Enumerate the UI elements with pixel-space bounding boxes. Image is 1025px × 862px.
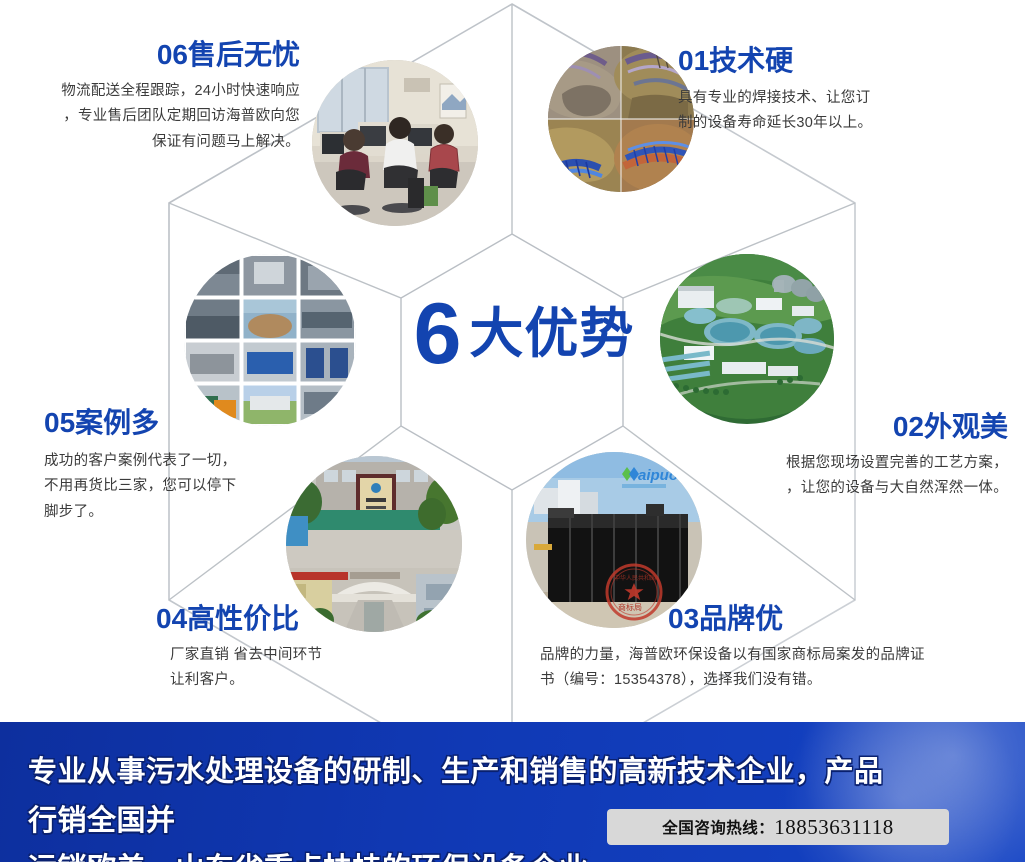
advantage-01-desc: 具有专业的焊接技术、让您订 制的设备寿命延长30年以上。 [678,86,1008,137]
photo-circle-03: aipuou 商标局 中华人民共和国 [526,452,702,628]
case-collage-photo [184,254,356,426]
advantage-01: 01技术硬 具有专业的焊接技术、让您订 制的设备寿命延长30年以上。 [678,46,1008,137]
photo-circle-06 [312,60,478,226]
hotline-label: 全国咨询热线： [662,816,774,838]
advantage-04-title: 04高性价比 [156,604,456,635]
photo-circle-02 [660,254,834,424]
advantage-04-desc: 厂家直销 省去中间环节 让利客户。 [170,643,456,694]
advantage-03: 03品牌优 品牌的力量，海普欧环保设备以有国家商标局案发的品牌证 书（编号：15… [540,604,980,694]
svg-text:aipuou: aipuou [638,467,687,484]
advantage-06-title: 06售后无忧 [0,40,300,71]
center-text: 大优势 [469,307,634,361]
advantages-stage: 6 大优势 [0,0,1025,722]
advantage-03-desc: 品牌的力量，海普欧环保设备以有国家商标局案发的品牌证 书（编号：15354378… [540,643,980,694]
center-label: 6 大优势 [384,286,664,382]
hotline-number: 18853631118 [774,815,893,840]
advantage-01-title: 01技术硬 [678,46,1008,77]
welding-seams-photo [548,46,694,192]
svg-text:中华人民共和国: 中华人民共和国 [614,574,656,582]
advantage-06: 06售后无忧 物流配送全程跟踪，24小时快速响应 ，专业售后团队定期回访海普欧向… [0,40,300,155]
advantage-06-desc: 物流配送全程跟踪，24小时快速响应 ，专业售后团队定期回访海普欧向您 保证有问题… [0,79,300,155]
advantage-05-title: 05案例多 [44,408,344,439]
advantage-04: 04高性价比 厂家直销 省去中间环节 让利客户。 [156,604,456,694]
advantage-03-title: 03品牌优 [668,604,980,635]
bottom-banner: 专业从事污水处理设备的研制、生产和销售的高新技术企业，产品行销全国并 远销欧美，… [0,722,1025,862]
aerial-wastewater-plant-photo [660,254,834,424]
office-staff-photo [312,60,478,226]
black-equipment-tank-photo: aipuou 商标局 中华人民共和国 [526,452,702,628]
photo-circle-05 [184,254,356,426]
advantage-02-title: 02外观美 [628,412,1008,443]
hotline-box[interactable]: 全国咨询热线： 18853631118 [607,809,949,845]
photo-circle-01 [548,46,694,192]
center-number: 6 [414,291,460,377]
